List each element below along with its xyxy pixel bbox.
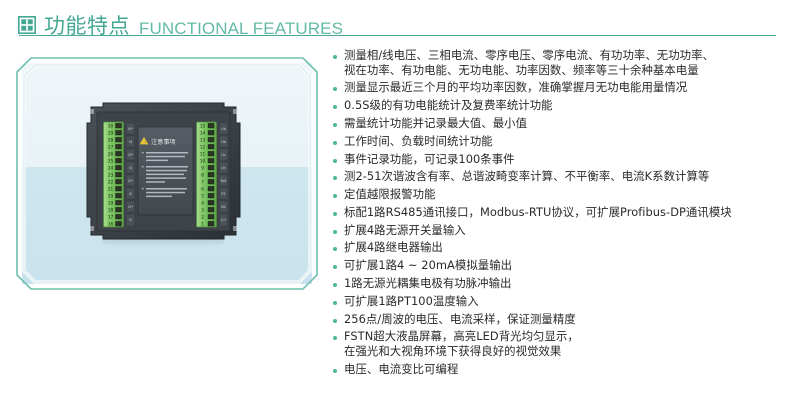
svg-text:9: 9	[201, 166, 204, 172]
svg-text:N/A: N/A	[221, 179, 228, 183]
feature-text: 测量相/线电压、三相电流、零序电压、零序电流、有功功率、无功功率、 视在功率、有…	[344, 48, 714, 77]
svg-text:14: 14	[200, 131, 206, 137]
bullet-dot-icon	[333, 141, 337, 145]
feature-text: 事件记录功能，可记录100条事件	[344, 152, 515, 167]
svg-text:23: 23	[108, 173, 114, 179]
bullet-dot-icon	[333, 212, 337, 216]
svg-text:L/+: L/+	[221, 218, 227, 222]
list-item: 测2-51次谐波含有率、总谐波畸变率计算、不平衡率、电流K系数计算等	[333, 169, 795, 184]
svg-text:I1*: I1*	[128, 205, 133, 209]
svg-text:3: 3	[201, 208, 204, 214]
list-item: 测量相/线电压、三相电流、零序电压、零序电流、有功功率、无功功率、 视在功率、有…	[333, 48, 795, 77]
bullet-dot-icon	[333, 176, 337, 180]
svg-text:6: 6	[201, 187, 204, 193]
feature-text: 测2-51次谐波含有率、总谐波畸变率计算、不平衡率、电流K系数计算等	[344, 169, 709, 184]
svg-text:I3*: I3*	[128, 153, 133, 157]
bullet-dot-icon	[333, 87, 337, 91]
feature-text: 可扩展1路PT100温度输入	[344, 294, 479, 309]
svg-text:I2*: I2*	[128, 179, 133, 183]
svg-text:!: !	[145, 141, 146, 145]
svg-text:5: 5	[201, 194, 204, 200]
feature-text: 1路无源光耦集电极有功脉冲输出	[344, 276, 511, 291]
list-item: 测量显示最近三个月的平均功率因数，准确掌握月无功电能用量情况	[333, 80, 795, 95]
list-item: FSTN超大液晶屏幕，高亮LED背光均匀显示， 在强光和大视角环境下获得良好的视…	[333, 329, 795, 358]
bullet-dot-icon	[333, 159, 337, 163]
svg-text:25: 25	[108, 159, 114, 165]
feature-list: 测量相/线电压、三相电流、零序电压、零序电流、有功功率、无功功率、 视在功率、有…	[333, 48, 795, 379]
list-item: 可扩展1路PT100温度输入	[333, 294, 795, 309]
bullet-dot-icon	[333, 336, 337, 340]
feature-text: 0.5S级的有功电能统计及复费率统计功能	[344, 98, 553, 113]
list-item: 事件记录功能，可记录100条事件	[333, 152, 795, 167]
svg-text:注意事项: 注意事项	[151, 138, 176, 146]
svg-text:N2: N2	[221, 205, 226, 209]
list-item: 扩展4路无源开关量输入	[333, 223, 795, 238]
svg-text:20: 20	[108, 194, 114, 200]
list-item: 可扩展1路4 ~ 20mA模拟量输出	[333, 258, 795, 273]
svg-text:I4*: I4*	[128, 127, 133, 131]
svg-text:Ua: Ua	[221, 127, 226, 131]
list-item: 定值越限报警功能	[333, 187, 795, 202]
svg-text:I3: I3	[129, 166, 132, 170]
list-item: 扩展4路继电器输出	[333, 240, 795, 255]
power-meter-rear-view: ! 注意事项 302	[81, 101, 246, 249]
feature-text: 定值越限报警功能	[344, 187, 436, 202]
svg-text:I1: I1	[129, 218, 132, 222]
header-divider	[19, 35, 776, 36]
svg-text:I2: I2	[129, 192, 132, 196]
feature-text: 工作时间、负载时间统计功能	[344, 134, 493, 149]
feature-text: 电压、电流变比可编程	[344, 362, 458, 377]
feature-text: 256点/周波的电压、电流采样，保证测量精度	[344, 312, 576, 327]
bullet-dot-icon	[333, 369, 337, 373]
list-item: 标配1路RS485通讯接口，Modbus-RTU协议，可扩展Profibus-D…	[333, 205, 795, 220]
list-item: 工作时间、负载时间统计功能	[333, 134, 795, 149]
bullet-dot-icon	[333, 247, 337, 251]
svg-text:11: 11	[200, 152, 206, 158]
list-item: 需量统计功能并记录最大值、最小值	[333, 116, 795, 131]
bullet-dot-icon	[333, 319, 337, 323]
feature-text: 标配1路RS485通讯接口，Modbus-RTU协议，可扩展Profibus-D…	[344, 205, 732, 220]
svg-text:13: 13	[200, 138, 206, 144]
svg-text:Uc: Uc	[221, 153, 225, 157]
svg-text:30: 30	[108, 124, 114, 130]
svg-text:28: 28	[108, 138, 114, 144]
svg-text:29: 29	[108, 131, 114, 137]
bullet-dot-icon	[333, 105, 337, 109]
feature-text: 扩展4路继电器输出	[344, 240, 443, 255]
svg-text:17: 17	[108, 215, 114, 221]
svg-text:24: 24	[108, 166, 114, 172]
svg-text:21: 21	[108, 187, 114, 193]
header-row: 功能特点 FUNCTIONAL FEATURES	[18, 10, 782, 37]
section-header: 功能特点 FUNCTIONAL FEATURES	[18, 10, 782, 44]
svg-text:19: 19	[108, 201, 114, 207]
svg-text:16: 16	[108, 222, 114, 228]
svg-text:I4: I4	[129, 140, 132, 144]
feature-text: 扩展4路无源开关量输入	[344, 223, 466, 238]
bullet-dot-icon	[333, 230, 337, 234]
svg-text:Un: Un	[221, 166, 226, 170]
bullet-dot-icon	[333, 123, 337, 127]
feature-text: 需量统计功能并记录最大值、最小值	[344, 116, 527, 131]
list-item: 电压、电流变比可编程	[333, 362, 795, 377]
svg-text:1: 1	[201, 222, 204, 228]
bullet-dot-icon	[333, 265, 337, 269]
page-title-cn: 功能特点	[44, 16, 130, 37]
feature-text: FSTN超大液晶屏幕，高亮LED背光均匀显示， 在强光和大视角环境下获得良好的视…	[344, 329, 579, 358]
product-image-panel: ! 注意事项 302	[15, 56, 319, 291]
grid-2x2-icon	[18, 16, 36, 34]
bullet-dot-icon	[333, 301, 337, 305]
svg-text:15: 15	[200, 124, 206, 130]
list-item: 1路无源光耦集电极有功脉冲输出	[333, 276, 795, 291]
bullet-dot-icon	[333, 194, 337, 198]
svg-text:18: 18	[108, 208, 114, 214]
svg-text:26: 26	[108, 152, 114, 158]
svg-text:10: 10	[200, 159, 206, 165]
svg-text:7: 7	[201, 180, 204, 186]
bullet-dot-icon	[333, 55, 337, 59]
feature-text: 可扩展1路4 ~ 20mA模拟量输出	[344, 258, 512, 273]
svg-text:2: 2	[201, 215, 204, 221]
bullet-dot-icon	[333, 283, 337, 287]
list-item: 0.5S级的有功电能统计及复费率统计功能	[333, 98, 795, 113]
svg-text:Ub: Ub	[221, 140, 226, 144]
feature-text: 测量显示最近三个月的平均功率因数，准确掌握月无功电能用量情况	[344, 80, 687, 95]
svg-text:P2: P2	[221, 192, 225, 196]
list-item: 256点/周波的电压、电流采样，保证测量精度	[333, 312, 795, 327]
svg-text:27: 27	[108, 145, 114, 151]
svg-text:4: 4	[201, 201, 204, 207]
svg-text:22: 22	[108, 180, 114, 186]
svg-text:8: 8	[201, 173, 204, 179]
svg-text:12: 12	[200, 145, 206, 151]
